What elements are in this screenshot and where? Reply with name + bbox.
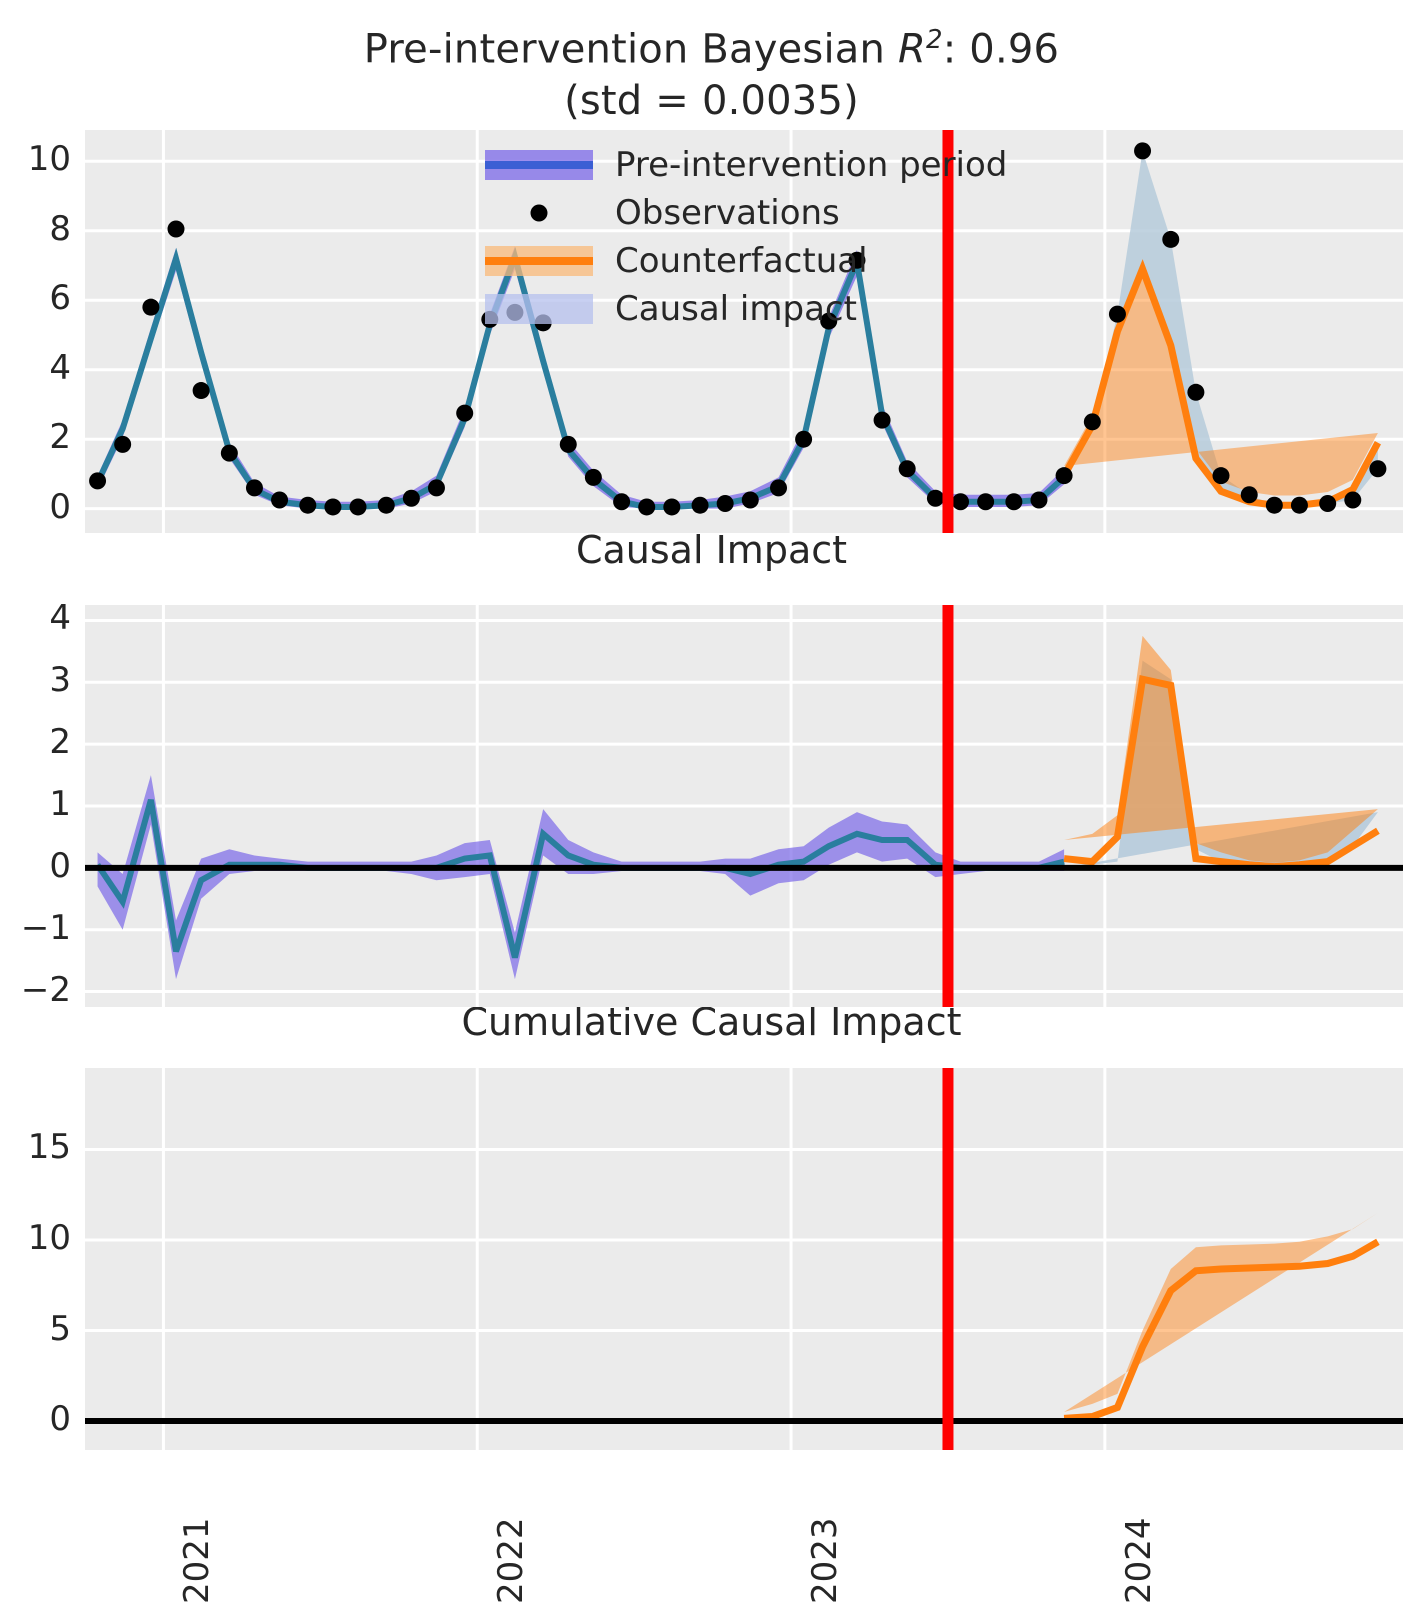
observation-point bbox=[613, 493, 630, 510]
legend-label: Observations bbox=[615, 193, 840, 233]
observation-point bbox=[403, 490, 420, 507]
observation-point bbox=[1005, 493, 1022, 510]
y-tick-label: 8 bbox=[0, 209, 71, 249]
y-tick-label: 10 bbox=[0, 1218, 71, 1258]
y-tick-label: 10 bbox=[0, 139, 71, 179]
legend-label: Counterfactual bbox=[615, 241, 868, 281]
y-tick-label: 0 bbox=[0, 1399, 71, 1439]
observation-point bbox=[428, 479, 445, 496]
legend-swatch-band bbox=[485, 294, 593, 324]
x-tick-label: 2022 bbox=[491, 1517, 531, 1604]
y-tick-label: 4 bbox=[0, 348, 71, 388]
observation-point bbox=[89, 472, 106, 489]
y-tick-label: 15 bbox=[0, 1127, 71, 1167]
observation-point bbox=[638, 498, 655, 515]
observation-point bbox=[1162, 231, 1179, 248]
y-tick-label: 6 bbox=[0, 278, 71, 318]
observation-point bbox=[899, 460, 916, 477]
r-squared-symbol: R bbox=[898, 26, 926, 72]
observation-point bbox=[874, 412, 891, 429]
panel-title-causal-impact: Causal Impact bbox=[0, 528, 1423, 572]
observation-point bbox=[1369, 460, 1386, 477]
x-tick-label: 2021 bbox=[177, 1517, 217, 1604]
figure-title-prefix: Pre-intervention Bayesian bbox=[364, 26, 898, 72]
figure-title-suffix: : 0.96 bbox=[943, 26, 1059, 72]
observation-point bbox=[560, 436, 577, 453]
observation-point bbox=[1212, 467, 1229, 484]
observation-point bbox=[1030, 491, 1047, 508]
observation-point bbox=[324, 498, 341, 515]
r-squared-exponent: 2 bbox=[926, 25, 943, 55]
y-tick-label: 4 bbox=[0, 598, 71, 638]
observation-point bbox=[1266, 497, 1283, 514]
y-tick-label: 5 bbox=[0, 1309, 71, 1349]
x-tick-label: 2024 bbox=[1119, 1517, 1159, 1604]
figure-title-line2: (std = 0.0035) bbox=[0, 75, 1423, 127]
observation-point bbox=[299, 497, 316, 514]
y-tick-label: 1 bbox=[0, 784, 71, 824]
observation-point bbox=[246, 479, 263, 496]
legend-label: Causal impact bbox=[615, 289, 857, 329]
observation-point bbox=[168, 221, 185, 238]
observation-point bbox=[1319, 495, 1336, 512]
observation-point bbox=[585, 469, 602, 486]
chart-cumulative-causal-impact bbox=[85, 1068, 1403, 1450]
figure-root: Pre-intervention Bayesian R2: 0.96 (std … bbox=[0, 0, 1423, 1623]
observation-point bbox=[717, 495, 734, 512]
figure-title-line1: Pre-intervention Bayesian R2: 0.96 bbox=[0, 14, 1423, 75]
observation-point bbox=[1056, 467, 1073, 484]
observation-point bbox=[1134, 142, 1151, 159]
observation-point bbox=[1241, 486, 1258, 503]
observation-point bbox=[927, 490, 944, 507]
observation-point bbox=[977, 493, 994, 510]
observation-point bbox=[142, 299, 159, 316]
observation-point bbox=[378, 497, 395, 514]
y-tick-label: 0 bbox=[0, 846, 71, 886]
figure-title: Pre-intervention Bayesian R2: 0.96 (std … bbox=[0, 14, 1423, 127]
observation-point bbox=[742, 491, 759, 508]
observation-point bbox=[1109, 306, 1126, 323]
legend-swatch-dot bbox=[531, 205, 548, 222]
observation-point bbox=[1187, 384, 1204, 401]
chart-observed-vs-counterfactual: Pre-intervention periodObservationsCount… bbox=[85, 130, 1403, 533]
y-tick-label: 2 bbox=[0, 417, 71, 457]
observation-point bbox=[770, 479, 787, 496]
observation-point bbox=[1344, 491, 1361, 508]
legend-label: Pre-intervention period bbox=[615, 145, 1007, 185]
observation-point bbox=[663, 498, 680, 515]
x-tick-label: 2023 bbox=[805, 1517, 845, 1604]
y-tick-label: 0 bbox=[0, 487, 71, 527]
y-tick-label: −1 bbox=[0, 908, 71, 948]
observation-point bbox=[692, 497, 709, 514]
y-tick-label: 3 bbox=[0, 660, 71, 700]
chart-causal-impact bbox=[85, 605, 1403, 1007]
observation-point bbox=[952, 493, 969, 510]
observation-point bbox=[1291, 497, 1308, 514]
observation-point bbox=[456, 405, 473, 422]
observation-point bbox=[795, 431, 812, 448]
y-tick-label: −2 bbox=[0, 970, 71, 1010]
observation-point bbox=[221, 445, 238, 462]
observation-point bbox=[193, 382, 210, 399]
y-tick-label: 2 bbox=[0, 722, 71, 762]
observation-point bbox=[271, 491, 288, 508]
observation-point bbox=[350, 498, 367, 515]
observation-point bbox=[114, 436, 131, 453]
observation-point bbox=[1084, 413, 1101, 430]
